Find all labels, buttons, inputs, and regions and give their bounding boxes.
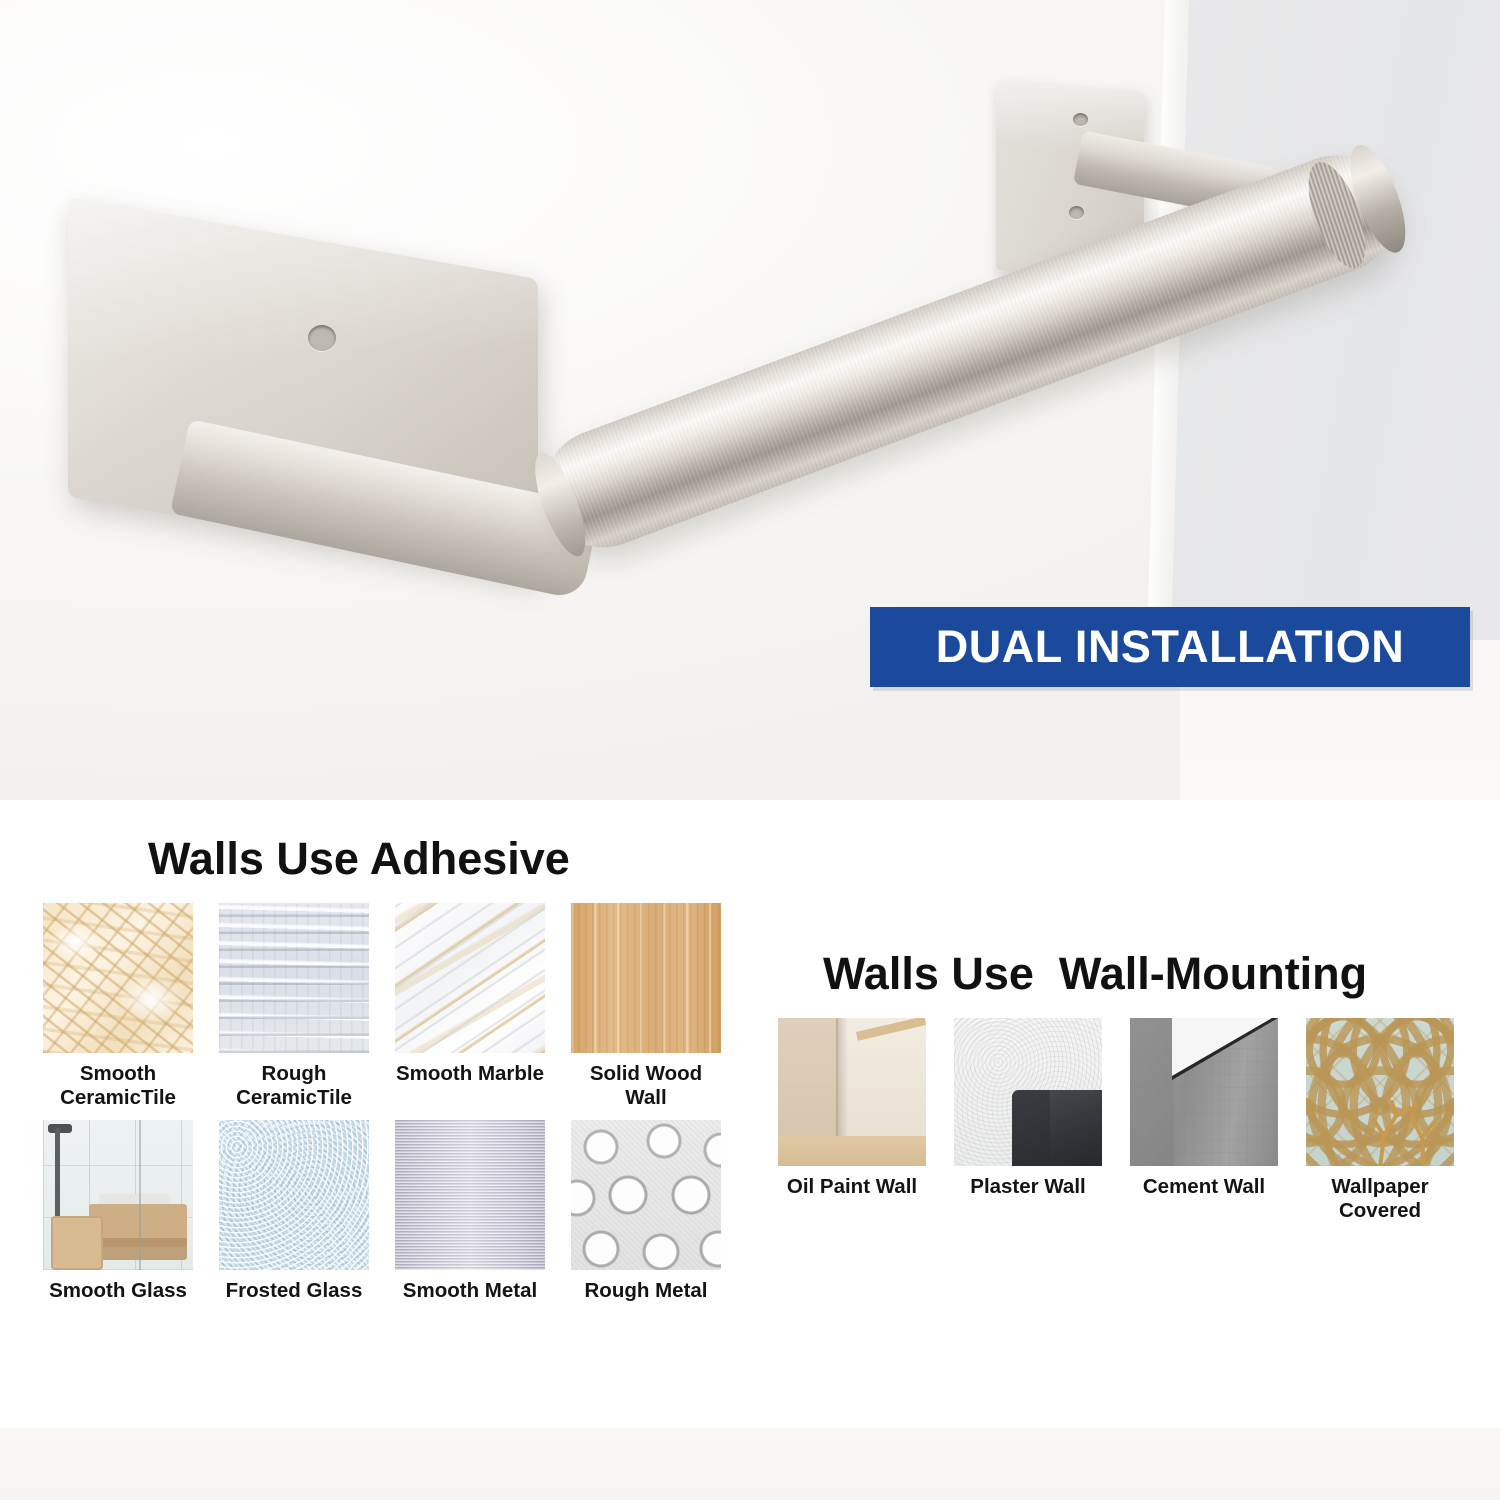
swatch-cell-rough-metal[interactable]: Rough Metal [571,1120,721,1303]
swatch-image-plaster-wall [954,1018,1102,1166]
texture-ceramic-smooth [43,903,193,1053]
swatch-label-smooth-glass: Smooth Glass [43,1279,193,1303]
swatch-cell-solid-wood-wall[interactable]: Solid Wood Wall [571,903,721,1110]
texture-metal-rough [571,1120,721,1270]
wooden-bench [89,1204,187,1260]
swatch-image-cement-wall [1130,1018,1278,1166]
adhesive-section-title: Walls Use Adhesive [148,833,570,885]
shower-head-icon [48,1124,72,1133]
bottom-divider-band [0,1428,1500,1500]
swatch-cell-rough-ceramic-tile[interactable]: Rough CeramicTile [219,903,369,1110]
wall-mounting-section-title: Walls Use Wall-Mounting [823,948,1367,1000]
texture-glass-frosted [219,1120,369,1270]
swatch-label-smooth-metal: Smooth Metal [395,1279,545,1303]
swatch-image-rough-metal [571,1120,721,1270]
swatch-cell-cement-wall[interactable]: Cement Wall [1130,1018,1278,1223]
swatch-image-smooth-marble [395,903,545,1053]
swatch-label-rough-ceramic-tile: Rough CeramicTile [219,1062,369,1110]
woven-basket [51,1216,103,1270]
cement-left-shade [1130,1018,1174,1166]
brushed-texture-overlay [527,139,1411,565]
swatch-image-wallpaper-covered [1306,1018,1454,1166]
swatch-label-oil-paint-wall: Oil Paint Wall [778,1175,926,1199]
glass-panel-edge [139,1120,141,1270]
swatch-image-frosted-glass [219,1120,369,1270]
texture-wallpaper [1306,1018,1454,1166]
texture-plaster [954,1018,1102,1166]
swatch-image-rough-ceramic-tile [219,903,369,1053]
texture-ceramic-rough [219,903,369,1053]
swatch-label-smooth-marble: Smooth Marble [395,1062,545,1086]
texture-cement [1130,1018,1278,1166]
wooden-bench-shelf [89,1238,187,1247]
swatch-image-smooth-glass [43,1120,193,1270]
near-plate-screw-hole [308,325,336,351]
swatch-image-solid-wood-wall [571,903,721,1053]
oil-paint-near-wall [778,1018,838,1142]
swatch-image-oil-paint-wall [778,1018,926,1166]
texture-wood [571,903,721,1053]
shower-hose [55,1128,60,1220]
swatch-cell-plaster-wall[interactable]: Plaster Wall [954,1018,1102,1223]
gold-antler-decor [1366,1094,1442,1166]
oil-paint-corner-shadow [836,1018,848,1140]
dual-installation-badge: DUAL INSTALLATION [870,607,1470,687]
towel-bar [527,139,1411,565]
swatch-label-rough-metal: Rough Metal [571,1279,721,1303]
swatch-cell-frosted-glass[interactable]: Frosted Glass [219,1120,369,1303]
swatch-label-cement-wall: Cement Wall [1130,1175,1278,1199]
swatch-cell-wallpaper-covered[interactable]: Wallpaper Covered [1306,1018,1454,1223]
swatch-cell-smooth-glass[interactable]: Smooth Glass [43,1120,193,1303]
adhesive-swatch-grid: Smooth CeramicTile Rough CeramicTile Smo… [43,903,721,1304]
texture-metal-smooth [395,1120,545,1270]
swatch-label-wallpaper-covered: Wallpaper Covered [1306,1175,1454,1223]
oil-paint-wood-floor [778,1136,926,1166]
cement-light-edge [1172,1018,1272,1076]
texture-marble [395,903,545,1053]
texture-glass-smooth [43,1120,193,1270]
oil-paint-far-wall [838,1018,926,1136]
towel-bar-group [520,120,1450,680]
swatch-label-solid-wood-wall: Solid Wood Wall [571,1062,721,1110]
swatch-cell-oil-paint-wall[interactable]: Oil Paint Wall [778,1018,926,1223]
dual-installation-badge-label: DUAL INSTALLATION [936,621,1404,673]
swatch-cell-smooth-marble[interactable]: Smooth Marble [395,903,545,1110]
swatch-label-smooth-ceramic-tile: Smooth CeramicTile [43,1062,193,1110]
swatch-cell-smooth-metal[interactable]: Smooth Metal [395,1120,545,1303]
wall-mounting-swatch-grid: Oil Paint Wall Plaster Wall Cement Wall [778,1018,1454,1223]
texture-oil-paint [778,1018,926,1166]
swatch-image-smooth-ceramic-tile [43,903,193,1053]
swatch-label-plaster-wall: Plaster Wall [954,1175,1102,1199]
swatch-image-smooth-metal [395,1120,545,1270]
product-infographic: DUAL INSTALLATION Walls Use Adhesive Smo… [0,0,1500,1500]
dark-sofa-armrest [1012,1090,1050,1166]
swatch-cell-smooth-ceramic-tile[interactable]: Smooth CeramicTile [43,903,193,1110]
swatch-label-frosted-glass: Frosted Glass [219,1279,369,1303]
